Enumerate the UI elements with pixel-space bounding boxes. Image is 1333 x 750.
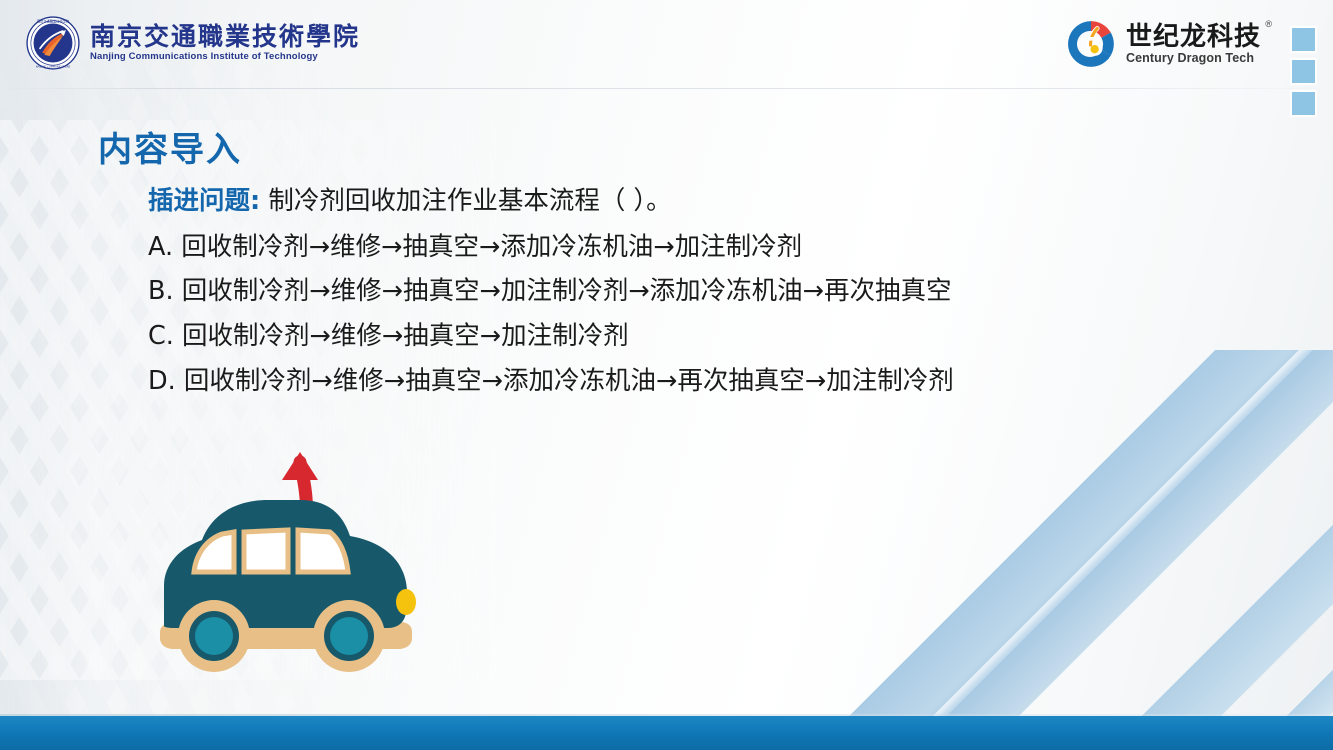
car-wheel-front bbox=[178, 600, 250, 672]
car-wheel-rear bbox=[313, 600, 385, 672]
university-name-cn: 南京交通職業技術學院 bbox=[90, 24, 360, 50]
page-title: 内容导入 bbox=[98, 122, 242, 171]
university-seal-icon: 南京交通職業技術學院 NANJING COMMUNICATIONS bbox=[26, 16, 80, 70]
question-block: 插进问题: 制冷剂回收加注作业基本流程（ ）。 A. 回收制冷剂→维修→抽真空→… bbox=[148, 185, 1278, 409]
slide-canvas: 南京交通職業技術學院 NANJING COMMUNICATIONS 南京交通職業… bbox=[0, 0, 1333, 750]
university-name-en: Nanjing Communications Institute of Tech… bbox=[90, 52, 360, 62]
registered-trademark-icon: ® bbox=[1265, 19, 1272, 29]
footer-bar bbox=[0, 716, 1333, 750]
option-a-letter: A. bbox=[148, 232, 173, 262]
red-arrow-head-icon bbox=[282, 452, 318, 480]
option-a[interactable]: A. 回收制冷剂→维修→抽真空→添加冷冻机油→加注制冷剂 bbox=[148, 231, 1278, 265]
decor-squares bbox=[1292, 28, 1315, 115]
option-d-text: 回收制冷剂→维修→抽真空→添加冷冻机油→再次抽真空→加注制冷剂 bbox=[184, 366, 954, 396]
option-c-text: 回收制冷剂→维修→抽真空→加注制冷剂 bbox=[182, 321, 629, 351]
option-c-letter: C. bbox=[148, 321, 174, 351]
diagonal-band-decoration bbox=[773, 350, 1333, 750]
option-d-letter: D. bbox=[148, 366, 176, 396]
car-illustration bbox=[150, 436, 480, 686]
century-dragon-c-mark-icon bbox=[1065, 18, 1117, 70]
car-with-red-arrow-illustration bbox=[150, 436, 480, 686]
question-text: 制冷剂回收加注作业基本流程（ ）。 bbox=[268, 186, 671, 216]
decor-square-1 bbox=[1292, 28, 1315, 51]
option-b-text: 回收制冷剂→维修→抽真空→加注制冷剂→添加冷冻机油→再次抽真空 bbox=[182, 276, 952, 306]
company-name-cn: 世纪龙科技 bbox=[1126, 23, 1261, 51]
decor-square-3 bbox=[1292, 92, 1315, 115]
question-label: 插进问题: bbox=[148, 186, 260, 216]
svg-text:南京交通職業技術學院: 南京交通職業技術學院 bbox=[37, 18, 70, 23]
option-d[interactable]: D. 回收制冷剂→维修→抽真空→添加冷冻机油→再次抽真空→加注制冷剂 bbox=[148, 365, 1278, 399]
company-name-en: Century Dragon Tech bbox=[1126, 52, 1261, 66]
option-b-letter: B. bbox=[148, 276, 174, 306]
company-logo: ® 世纪龙科技 Century Dragon Tech bbox=[1065, 18, 1261, 70]
university-logo: 南京交通職業技術學院 NANJING COMMUNICATIONS 南京交通職業… bbox=[26, 16, 360, 70]
option-c[interactable]: C. 回收制冷剂→维修→抽真空→加注制冷剂 bbox=[148, 320, 1278, 354]
decor-square-2 bbox=[1292, 60, 1315, 83]
car-window-front bbox=[194, 532, 234, 572]
svg-text:NANJING COMMUNICATIONS: NANJING COMMUNICATIONS bbox=[36, 64, 71, 68]
car-window-mid bbox=[244, 530, 288, 572]
header-divider bbox=[0, 88, 1333, 89]
option-a-text: 回收制冷剂→维修→抽真空→添加冷冻机油→加注制冷剂 bbox=[181, 232, 802, 262]
diagonal-band-1 bbox=[838, 350, 1333, 750]
option-b[interactable]: B. 回收制冷剂→维修→抽真空→加注制冷剂→添加冷冻机油→再次抽真空 bbox=[148, 275, 1278, 309]
question-prompt: 插进问题: 制冷剂回收加注作业基本流程（ ）。 bbox=[148, 185, 1278, 219]
car-headlight bbox=[396, 589, 416, 615]
